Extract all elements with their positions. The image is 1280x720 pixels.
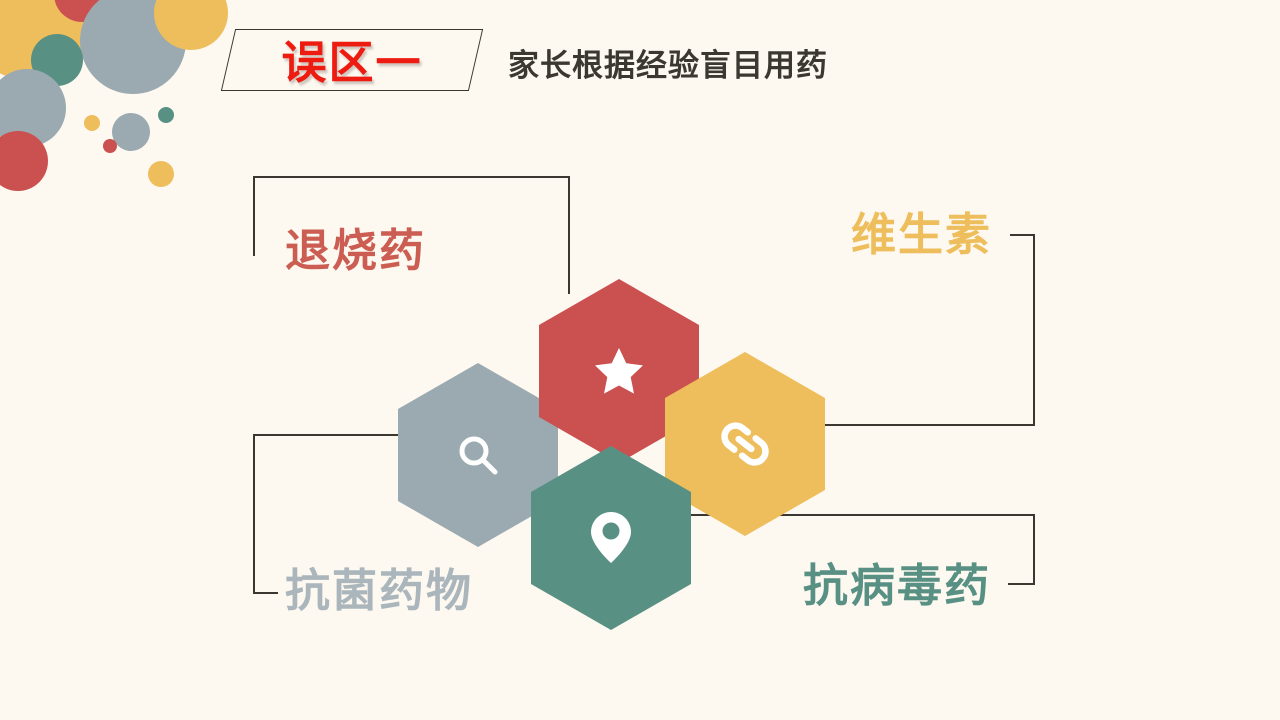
connector-antiviral-stub <box>1008 583 1035 585</box>
node-label-antiviral: 抗病毒药 <box>803 563 991 608</box>
location-pin-icon <box>590 511 632 565</box>
star-icon <box>594 347 644 395</box>
connector-antibiotic-vertical <box>253 434 255 594</box>
connector-antiviral-vertical <box>1033 514 1035 584</box>
node-label-vitamin: 维生素 <box>851 212 992 257</box>
search-icon <box>452 429 504 481</box>
slide-canvas: 误区一 家长根据经验盲目用药 退烧药维生素抗菌药物抗病毒药 <box>0 0 1280 720</box>
node-label-fever: 退烧药 <box>285 228 426 273</box>
connector-antibiotic-stub <box>253 592 278 594</box>
node-label-antibiotic: 抗菌药物 <box>285 568 473 613</box>
connector-fever-vertical-left <box>253 176 255 256</box>
connector-vitamin-vertical <box>1033 234 1035 426</box>
connector-vitamin-stub-top <box>1010 234 1035 236</box>
connector-antibiotic-horizontal <box>253 434 401 436</box>
link-icon <box>718 417 772 471</box>
connector-fever-vertical-right <box>568 176 570 294</box>
connector-vitamin-horizontal <box>822 424 1034 426</box>
connector-fever-horizontal-top <box>253 176 570 178</box>
hexagon-diagram: 退烧药维生素抗菌药物抗病毒药 <box>0 0 1280 720</box>
